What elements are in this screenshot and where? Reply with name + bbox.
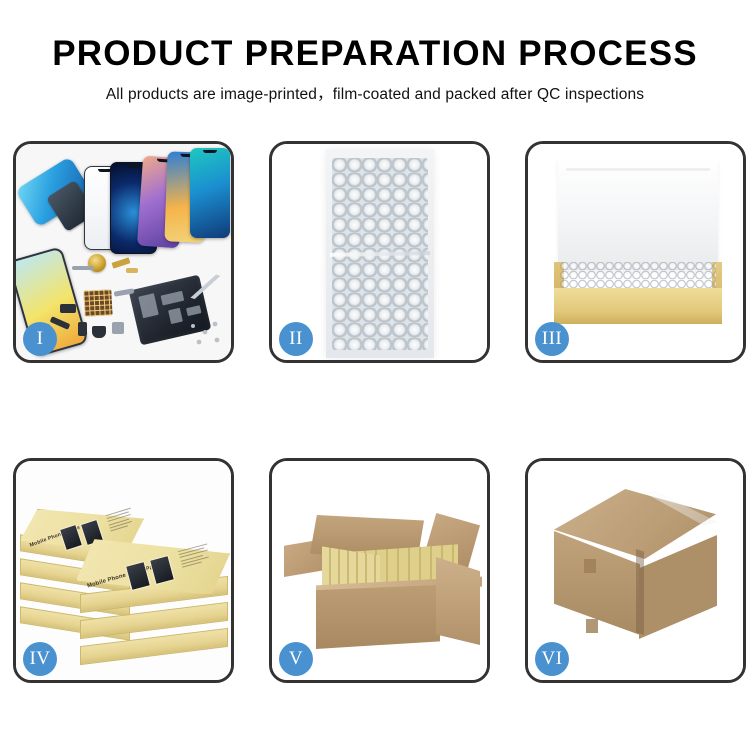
chip-grid-icon (83, 289, 112, 316)
gold-connector-part (126, 268, 138, 273)
box-stack: Mobile Phone Spare Parts Mobile Phone Sp… (20, 481, 231, 667)
step-panel-1: I (13, 141, 234, 363)
page-title: PRODUCT PREPARATION PROCESS (0, 36, 750, 73)
box-front-panel (554, 288, 722, 324)
step-badge-6: VI (535, 642, 569, 676)
bubble-wrapped-contents (560, 262, 716, 290)
step-badge-4: IV (23, 642, 57, 676)
page-header: PRODUCT PREPARATION PROCESS All products… (0, 0, 750, 104)
step-badge-5: V (279, 642, 313, 676)
step-panel-2: II (269, 141, 490, 363)
carton-side-panel (436, 557, 480, 645)
small-ic-part (78, 322, 87, 336)
white-foam-lid (558, 158, 718, 270)
carton-staple-bottom (586, 619, 598, 633)
carton-front-panel (316, 585, 440, 649)
step-badge-3: III (535, 322, 569, 356)
step-panel-6: VI (525, 458, 746, 683)
phone-teal-wallpaper (190, 148, 230, 238)
step-panel-3: III (525, 141, 746, 363)
battery-connector-part (112, 322, 124, 334)
step-badge-1: I (23, 322, 57, 356)
step-panel-4: Mobile Phone Spare Parts Mobile Phone Sp… (13, 458, 234, 683)
step-badge-2: II (279, 322, 313, 356)
carton-staple-top (584, 559, 596, 573)
camera-module-part (60, 304, 76, 313)
speaker-mesh-part (72, 266, 94, 270)
process-steps-grid: I II III (13, 141, 737, 683)
carton-corner-seam (636, 549, 644, 635)
page-subtitle: All products are image-printed，film-coat… (0, 82, 750, 104)
bubble-wrap-pouch (326, 150, 434, 358)
screws-group (185, 320, 225, 350)
step-panel-5: V (269, 458, 490, 683)
earpiece-part (92, 326, 106, 338)
